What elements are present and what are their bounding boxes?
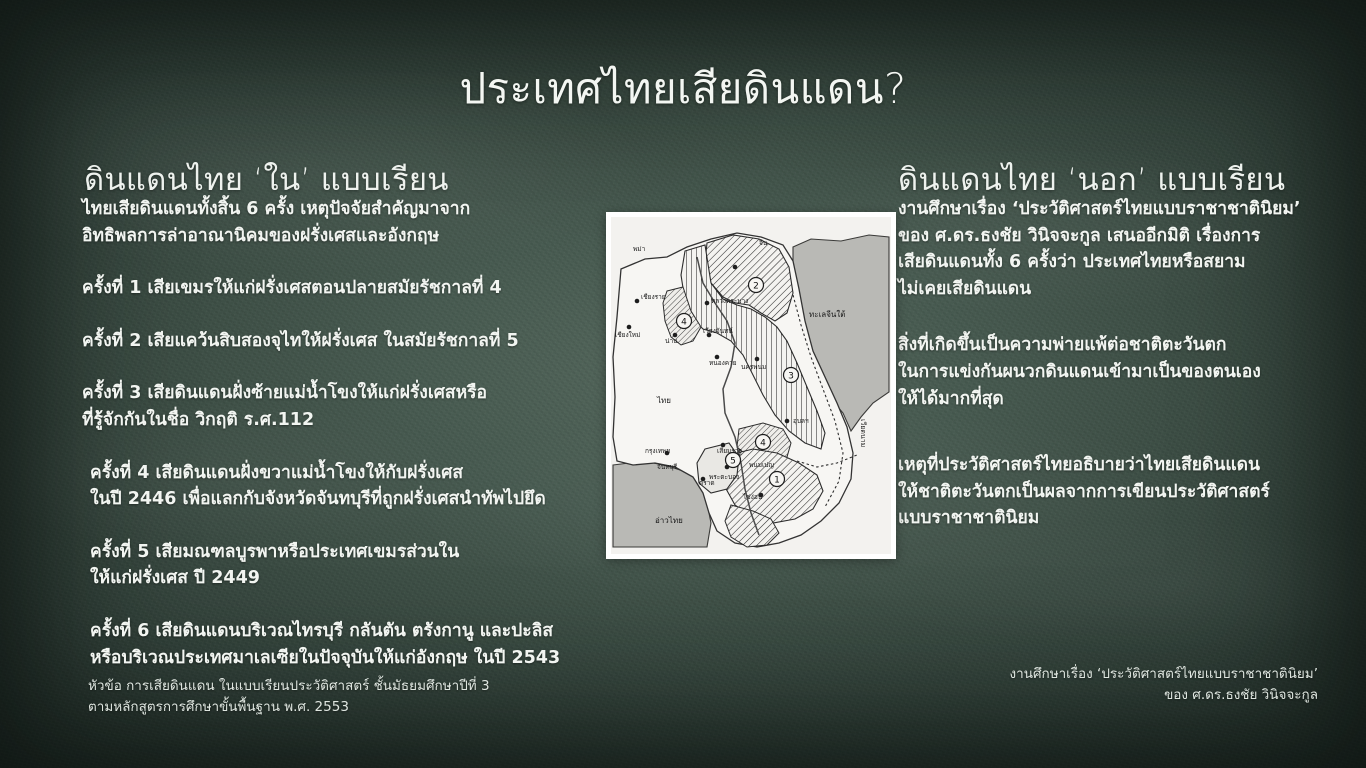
svg-text:4: 4 bbox=[760, 439, 766, 449]
right-p2-line-1: สิ่งที่เกิดขึ้นเป็นความพ่ายแพ้ต่อชาติตะว… bbox=[898, 332, 1318, 359]
map-label-south-china-sea: ทะเลจีนใต้ bbox=[809, 310, 845, 319]
right-source-footnote: งานศึกษาเรื่อง ‘ประวัติศาสตร์ไทยแบบราชาช… bbox=[1010, 664, 1318, 706]
right-paragraph-1: งานศึกษาเรื่อง ‘ประวัติศาสตร์ไทยแบบราชาช… bbox=[898, 196, 1318, 302]
right-p1-line-3: เสียดินแดนทั้ง 6 ครั้งว่า ประเทศไทยหรือส… bbox=[898, 249, 1318, 276]
map-label-vietnam: เวียดนาม bbox=[859, 419, 867, 447]
map-label-nongkhai: หนองคาย bbox=[709, 359, 737, 367]
loss-item-5-line-2: ให้แก่ฝรั่งเศส ปี 2449 bbox=[90, 565, 552, 592]
right-p1-line-1: งานศึกษาเรื่อง ‘ประวัติศาสตร์ไทยแบบราชาช… bbox=[898, 196, 1318, 223]
loss-item-2-line-1: ครั้งที่ 2 เสียแคว้นสิบสองจุไทให้ฝรั่งเศ… bbox=[82, 328, 552, 355]
map-label-nakhonphanom: นครพนม bbox=[741, 363, 766, 371]
historical-territory-map: 2 3 4 4 5 bbox=[606, 212, 896, 559]
map-number-4-upper: 4 bbox=[677, 314, 692, 329]
loss-item-1-line-1: ครั้งที่ 1 เสียเขมรให้แก่ฝรั่งเศสตอนปลาย… bbox=[82, 275, 552, 302]
left-intro-line-2: อิทธิพลการล่าอาณานิคมของฝรั่งเศสและอังกฤ… bbox=[82, 223, 552, 250]
map-label-burma: พม่า bbox=[633, 245, 646, 253]
right-p3-line-1: เหตุที่ประวัติศาสตร์ไทยอธิบายว่าไทยเสียด… bbox=[898, 452, 1318, 479]
left-footnote-line-2: ตามหลักสูตรการศึกษาขั้นพื้นฐาน พ.ศ. 2553 bbox=[88, 697, 490, 718]
map-number-3: 3 bbox=[784, 368, 799, 383]
loss-item-1: ครั้งที่ 1 เสียเขมรให้แก่ฝรั่งเศสตอนปลาย… bbox=[82, 275, 552, 302]
page-title: ประเทศไทยเสียดินแดน? bbox=[0, 66, 1366, 112]
map-number-1: 1 bbox=[770, 472, 785, 487]
loss-item-5: ครั้งที่ 5 เสียมณฑลบูรพาหรือประเทศเขมรส่… bbox=[82, 539, 552, 592]
svg-text:4: 4 bbox=[681, 318, 687, 328]
map-label-gulf-of-thailand: อ่าวไทย bbox=[655, 516, 683, 525]
loss-item-4-line-1: ครั้งที่ 4 เสียดินแดนฝั่งขวาแม่น้ำโขงให้… bbox=[90, 460, 552, 487]
loss-item-4: ครั้งที่ 4 เสียดินแดนฝั่งขวาแม่น้ำโขงให้… bbox=[82, 460, 552, 513]
map-label-china: จีน bbox=[759, 239, 768, 247]
right-p2-line-2: ในการแข่งกันผนวกดินแดนเข้ามาเป็นของตนเอง bbox=[898, 359, 1318, 386]
svg-text:1: 1 bbox=[774, 476, 780, 486]
right-p3-line-2: ให้ชาติตะวันตกเป็นผลจากการเขียนประวัติศา… bbox=[898, 479, 1318, 506]
svg-text:3: 3 bbox=[788, 372, 794, 382]
loss-item-6-line-1: ครั้งที่ 6 เสียดินแดนบริเวณไทรบุรี กลันต… bbox=[90, 618, 552, 645]
map-label-saigon: ไซ่ง่อน bbox=[742, 493, 763, 501]
map-label-chiangrai: เชียงราย bbox=[641, 293, 666, 301]
map-label-nan: น่าน bbox=[665, 337, 678, 345]
svg-text:5: 5 bbox=[730, 457, 736, 467]
map-number-2: 2 bbox=[749, 278, 764, 293]
left-footnote-line-1: หัวข้อ การเสียดินแดน ในแบบเรียนประวัติศา… bbox=[88, 676, 490, 697]
loss-item-6-line-2: หรือบริเวณประเทศมาเลเซียในปัจจุบันให้แก่… bbox=[90, 645, 552, 672]
map-svg: 2 3 4 4 5 bbox=[611, 217, 891, 554]
loss-item-3-line-2: ที่รู้จักกันในชื่อ วิกฤติ ร.ศ.112 bbox=[82, 407, 552, 434]
left-source-footnote: หัวข้อ การเสียดินแดน ในแบบเรียนประวัติศา… bbox=[88, 676, 490, 718]
map-label-vientiane: เวียงจันทน์ bbox=[703, 327, 733, 335]
loss-item-3: ครั้งที่ 3 เสียดินแดนฝั่งซ้ายแม่น้ำโขงให… bbox=[82, 380, 552, 433]
map-label-phnompenh: พนมเปญ bbox=[749, 461, 774, 469]
svg-text:2: 2 bbox=[753, 282, 759, 292]
map-body: 2 3 4 4 5 bbox=[611, 217, 891, 554]
right-p1-line-2: ของ ศ.ดร.ธงชัย วินิจจะกูล เสนออีกมิติ เร… bbox=[898, 223, 1318, 250]
left-column-body: ไทยเสียดินแดนทั้งสิ้น 6 ครั้ง เหตุปัจจัย… bbox=[82, 196, 552, 685]
right-paragraph-2: สิ่งที่เกิดขึ้นเป็นความพ่ายแพ้ต่อชาติตะว… bbox=[898, 332, 1318, 412]
loss-item-2: ครั้งที่ 2 เสียแคว้นสิบสองจุไทให้ฝรั่งเศ… bbox=[82, 328, 552, 355]
right-footnote-line-2: ของ ศ.ดร.ธงชัย วินิจจะกูล bbox=[1010, 685, 1318, 706]
left-intro-paragraph: ไทยเสียดินแดนทั้งสิ้น 6 ครั้ง เหตุปัจจัย… bbox=[82, 196, 552, 249]
right-p3-line-3: แบบราชาชาตินิยม bbox=[898, 505, 1318, 532]
loss-item-5-line-1: ครั้งที่ 5 เสียมณฑลบูรพาหรือประเทศเขมรส่… bbox=[90, 539, 552, 566]
right-p1-line-4: ไม่เคยเสียดินแดน bbox=[898, 276, 1318, 303]
right-paragraph-3: เหตุที่ประวัติศาสตร์ไทยอธิบายว่าไทยเสียด… bbox=[898, 452, 1318, 532]
map-label-luangprabang: หลวงพระบาง bbox=[711, 297, 748, 305]
right-footnote-line-1: งานศึกษาเรื่อง ‘ประวัติศาสตร์ไทยแบบราชาช… bbox=[1010, 664, 1318, 685]
map-label-trat: ตราด bbox=[699, 479, 715, 487]
loss-item-4-line-2: ในปี 2446 เพื่อแลกกับจังหวัดจันทบุรีที่ถ… bbox=[90, 486, 552, 513]
map-label-thailand: ไทย bbox=[656, 396, 671, 405]
slide-content: ประเทศไทยเสียดินแดน? ดินแดนไทย ‘ใน’ แบบเ… bbox=[0, 0, 1366, 768]
map-label-ubon: อุบลฯ bbox=[793, 417, 809, 425]
right-column-body: งานศึกษาเรื่อง ‘ประวัติศาสตร์ไทยแบบราชาช… bbox=[898, 196, 1318, 546]
left-intro-line-1: ไทยเสียดินแดนทั้งสิ้น 6 ครั้ง เหตุปัจจัย… bbox=[82, 196, 552, 223]
loss-item-6: ครั้งที่ 6 เสียดินแดนบริเวณไทรบุรี กลันต… bbox=[82, 618, 552, 671]
map-label-chiangmai: เชียงใหม่ bbox=[615, 331, 640, 339]
map-label-siemreap: เสียมราฐ bbox=[717, 447, 742, 455]
map-label-chanthaburi: จันทบุรี bbox=[657, 463, 678, 471]
loss-item-3-line-1: ครั้งที่ 3 เสียดินแดนฝั่งซ้ายแม่น้ำโขงให… bbox=[82, 380, 552, 407]
map-number-4-lower: 4 bbox=[756, 435, 771, 450]
right-p2-line-3: ให้ได้มากที่สุด bbox=[898, 386, 1318, 413]
map-label-bangkok: กรุงเทพฯ bbox=[645, 447, 670, 455]
